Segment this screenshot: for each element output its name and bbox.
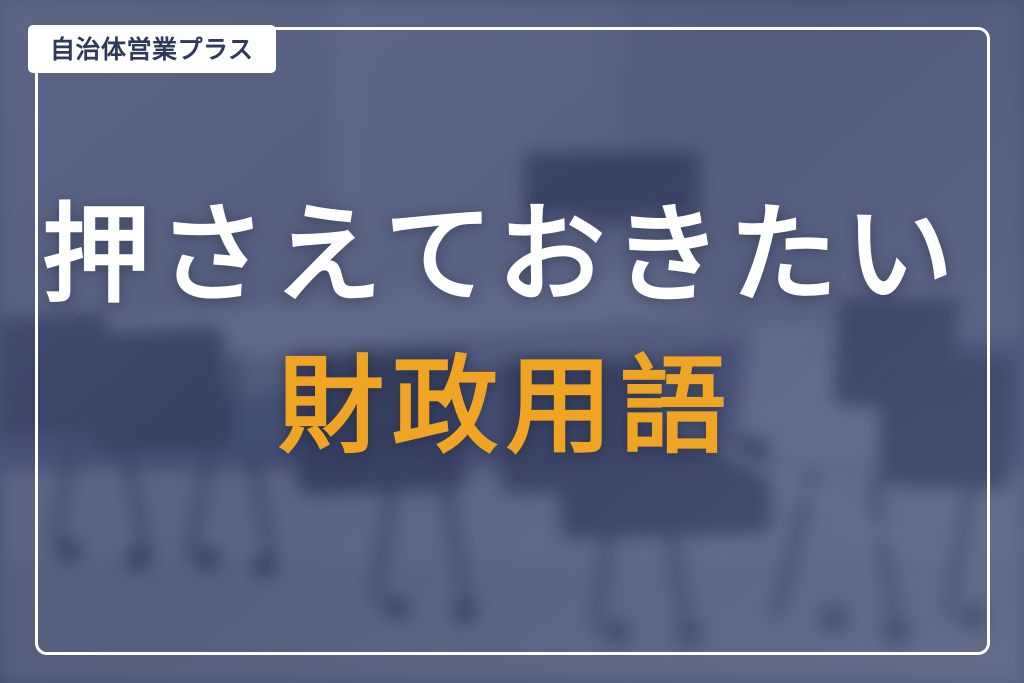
headline-line-1: 押さえておきたい	[42, 198, 1002, 315]
site-badge: 自治体営業プラス	[28, 25, 276, 73]
headline-line-2: 財政用語	[278, 350, 1018, 464]
site-badge-label: 自治体営業プラス	[50, 37, 254, 62]
decorative-frame	[35, 27, 990, 655]
banner-canvas: 自治体営業プラス 押さえておきたい 財政用語	[0, 0, 1024, 683]
